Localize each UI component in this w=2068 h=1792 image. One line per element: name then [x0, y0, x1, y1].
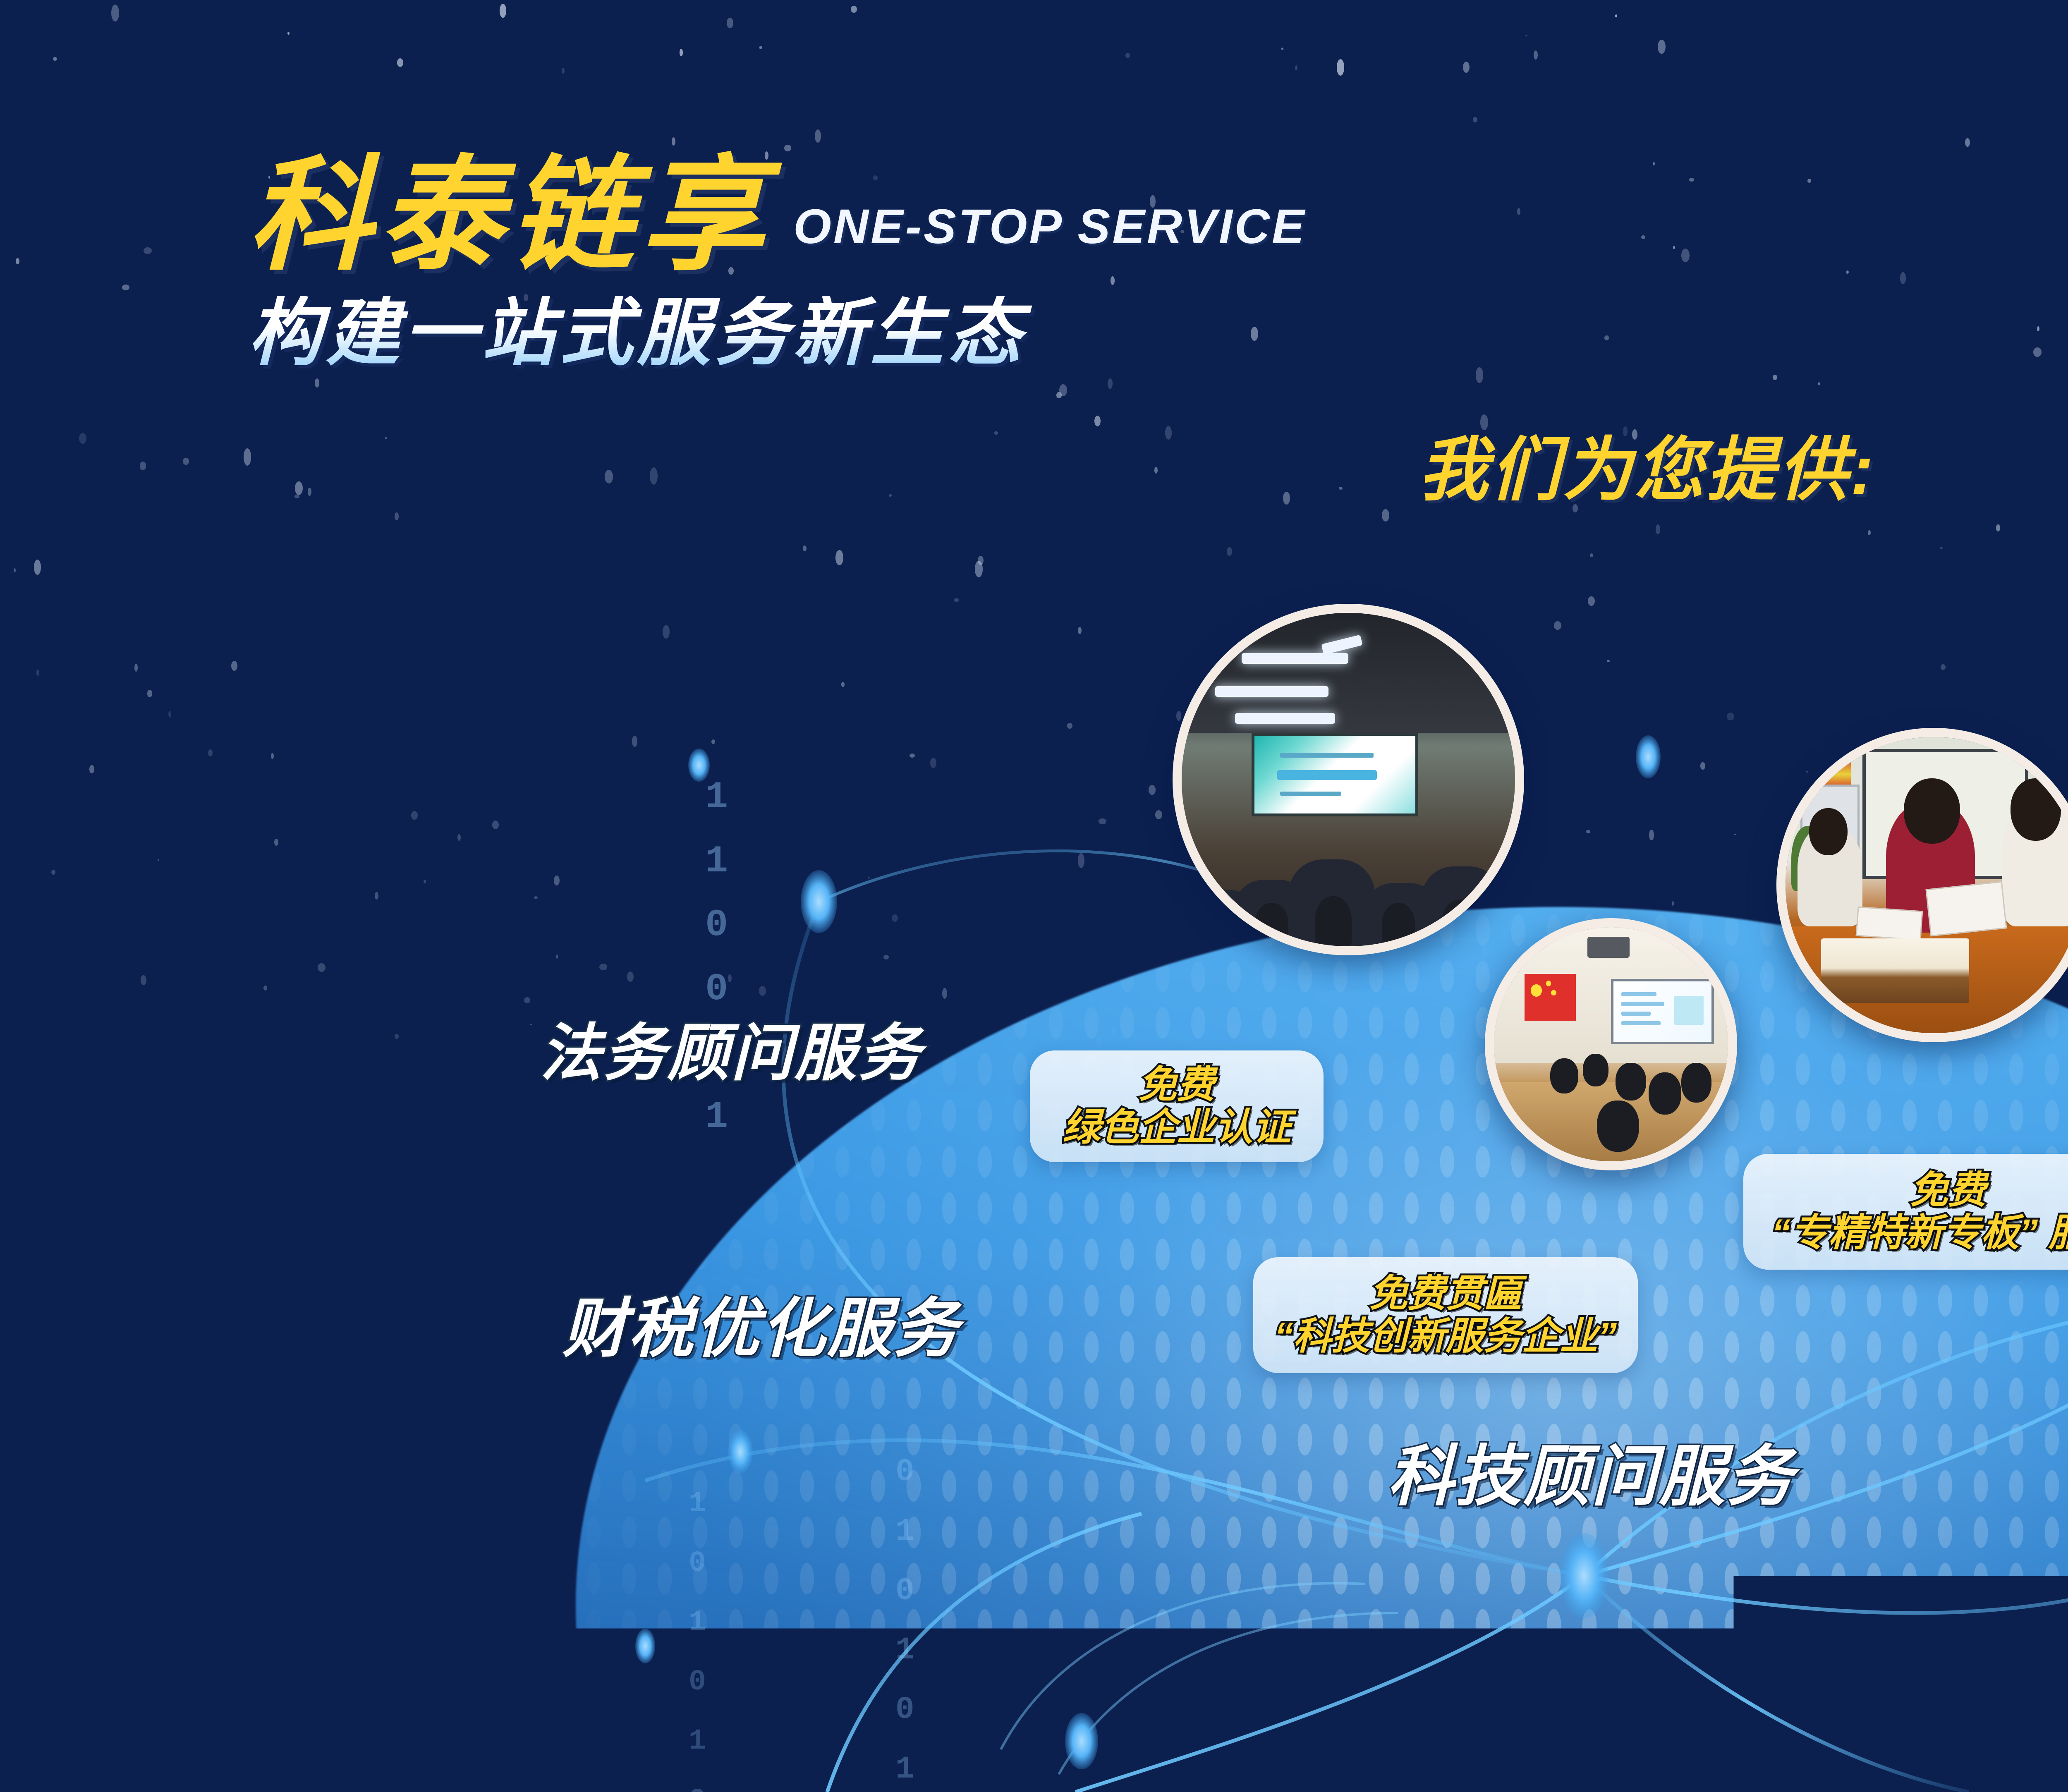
star [1941, 664, 1946, 670]
star [784, 145, 791, 152]
star [1940, 547, 1943, 549]
star [1473, 117, 1477, 122]
star [1125, 53, 1130, 58]
star [868, 876, 870, 879]
star [1649, 830, 1654, 840]
star [1339, 487, 1343, 490]
star [1094, 416, 1101, 426]
star [1653, 162, 1655, 165]
star [1672, 901, 1674, 906]
star [1154, 467, 1158, 474]
star [1773, 375, 1777, 380]
service-label-legal: 法务顾问服务 [540, 1003, 922, 1093]
star [975, 561, 983, 577]
star [1067, 723, 1072, 729]
star [632, 736, 638, 747]
consulting-photo [1776, 728, 2068, 1042]
star [835, 550, 844, 565]
star [680, 49, 683, 56]
star [1525, 35, 1527, 36]
badge-line-2: “科技创新服务企业” [1274, 1315, 1617, 1358]
star [16, 258, 19, 264]
star [89, 765, 94, 773]
page-title: 科泰链享 [248, 153, 771, 277]
star [883, 955, 889, 960]
free-badge-green-certification[interactable]: 免费 绿色企业认证 [1030, 1050, 1324, 1162]
star [1463, 62, 1470, 73]
star [728, 974, 732, 983]
star [803, 545, 807, 551]
star [395, 512, 399, 520]
star [271, 753, 274, 759]
star [605, 470, 613, 483]
star [1534, 50, 1538, 60]
star [385, 437, 387, 439]
star [1681, 249, 1690, 262]
star [492, 821, 499, 829]
star [1588, 596, 1594, 606]
star [308, 488, 311, 496]
star [1099, 818, 1106, 825]
badge-line-2: “专精特新专板” 服务 [1771, 1212, 2068, 1254]
star [1476, 367, 1483, 383]
star [1700, 762, 1705, 769]
star [1818, 382, 1820, 385]
binary-digit: 0 [705, 905, 728, 945]
free-badge-specialized-new-board[interactable]: 免费 “专精特新专板” 服务 [1743, 1154, 2068, 1270]
star [759, 46, 762, 49]
star [1337, 59, 1344, 76]
star [375, 892, 378, 900]
star [411, 811, 418, 820]
badge-line-1: 免费贯匾 [1369, 1273, 1522, 1315]
star [53, 57, 57, 60]
star [889, 494, 892, 497]
star [231, 661, 237, 671]
star [294, 495, 299, 498]
star [1108, 378, 1113, 389]
star [1155, 810, 1162, 819]
star [650, 467, 658, 485]
title-block: 科泰链享 ONE-STOP SERVICE 构建一站式服务新生态 [248, 153, 1307, 370]
star [892, 914, 898, 922]
star [1656, 524, 1660, 534]
star [1382, 509, 1389, 522]
star [1149, 785, 1156, 795]
star [1658, 40, 1666, 54]
star [500, 4, 506, 18]
star [530, 1024, 532, 1025]
star [1734, 834, 1736, 835]
star [457, 834, 461, 841]
badge-line-1: 免费 [1910, 1169, 1986, 1212]
star [79, 433, 86, 444]
offer-heading: 我们为您提供: [1419, 414, 1876, 514]
star [1673, 246, 1675, 249]
star [1281, 48, 1283, 50]
star [263, 986, 268, 991]
star [1059, 384, 1068, 396]
star [111, 5, 119, 22]
star [318, 963, 326, 972]
star [2037, 326, 2039, 331]
star [562, 68, 565, 74]
star [815, 129, 821, 143]
star [1176, 711, 1181, 721]
star [14, 568, 16, 572]
star [1283, 492, 1290, 505]
star [711, 739, 715, 744]
star [1227, 547, 1233, 556]
star [1615, 14, 1617, 17]
service-label-tech: 科技顾问服务 [1388, 1423, 1795, 1519]
star [627, 971, 634, 982]
star [395, 1034, 399, 1039]
star [158, 859, 159, 861]
star [36, 670, 39, 676]
star [141, 975, 146, 985]
star [168, 711, 171, 718]
star [1846, 270, 1849, 274]
star [1590, 553, 1594, 557]
star [954, 598, 959, 602]
star [122, 285, 129, 290]
star [397, 58, 403, 67]
star [424, 880, 426, 883]
star [1078, 853, 1084, 868]
star [140, 462, 146, 470]
star [1689, 178, 1694, 182]
star [1517, 208, 1520, 215]
service-label-tax: 财税优化服务 [562, 1276, 960, 1369]
title-english: ONE-STOP SERVICE [793, 199, 1307, 277]
star [183, 458, 189, 465]
star [208, 749, 213, 756]
star [34, 560, 41, 575]
star [1807, 179, 1811, 183]
binary-column-left: 110011 [705, 778, 728, 1161]
star [1641, 235, 1645, 239]
star [1554, 621, 1561, 630]
badge-line-2: 绿色企业认证 [1063, 1106, 1291, 1149]
star [1056, 392, 1061, 399]
star [134, 664, 138, 672]
star [727, 18, 734, 28]
star [978, 556, 984, 565]
star [524, 997, 530, 1003]
star [841, 682, 844, 687]
star [554, 876, 560, 886]
star [1965, 138, 1970, 147]
star [672, 137, 675, 146]
star [942, 988, 947, 999]
star [287, 32, 290, 35]
star [1996, 524, 2000, 531]
binary-digit: 1 [705, 842, 728, 882]
star [1295, 65, 1297, 70]
star [1727, 713, 1734, 720]
binary-digit: 1 [705, 1097, 728, 1137]
promotional-banner: 110011 11001011 0101010 101010 科泰链享 ONE-… [0, 0, 2068, 1792]
star [1165, 426, 1172, 440]
binary-digit: 1 [705, 778, 728, 818]
star [295, 481, 303, 495]
star [144, 247, 151, 254]
star [51, 870, 55, 875]
star [556, 955, 558, 959]
star [1586, 830, 1590, 834]
star [534, 896, 538, 899]
star [1607, 660, 1610, 662]
star [930, 758, 937, 768]
star [994, 431, 998, 435]
star [1604, 335, 1609, 340]
badge-line-1: 免费 [1139, 1064, 1215, 1106]
star [2033, 347, 2041, 357]
star [663, 625, 670, 639]
meeting-photo [1485, 918, 1737, 1170]
star [1868, 530, 1871, 535]
star [1078, 627, 1082, 634]
star [315, 378, 319, 388]
star [147, 690, 152, 698]
star [910, 754, 915, 758]
star [274, 839, 278, 846]
star [244, 448, 251, 465]
seminar-photo [1173, 604, 1524, 955]
star [759, 986, 766, 996]
free-badge-tech-innovation-enterprise[interactable]: 免费贯匾 “科技创新服务企业” [1253, 1257, 1638, 1373]
star [1900, 272, 1906, 284]
tagline: 构建一站式服务新生态 [248, 296, 1307, 370]
star [599, 964, 607, 971]
star [851, 6, 857, 13]
